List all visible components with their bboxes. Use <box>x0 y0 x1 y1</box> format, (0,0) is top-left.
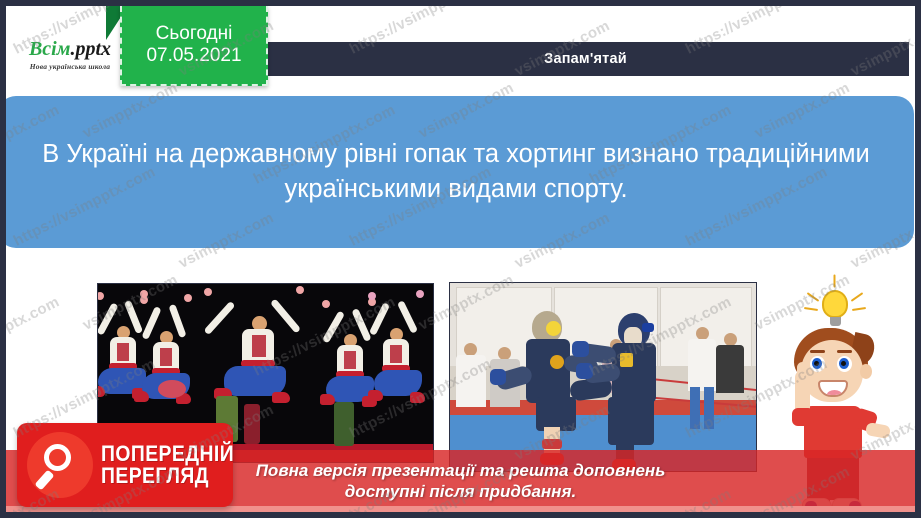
fighter-glove <box>572 341 589 357</box>
slide-canvas: п с Всім.pptx Нова українська школа Сьог… <box>6 6 915 512</box>
preview-badge-line1: ПОПЕРЕДНІЙ <box>101 443 234 465</box>
purchase-banner-line2: доступні після придбання. <box>345 482 576 501</box>
stage-prop <box>158 380 186 398</box>
preview-badge-line2: ПЕРЕГЛЯД <box>101 465 234 487</box>
boy-ear <box>860 364 872 379</box>
watermark-text: https://vsimpptx.com <box>6 293 62 379</box>
boy-tongue <box>827 390 842 397</box>
fighter-emblem <box>550 355 564 369</box>
stage-prop <box>334 402 354 446</box>
preview-badge-text: ПОПЕРЕДНІЙ ПЕРЕГЛЯД <box>101 443 252 488</box>
boy-brow-right <box>837 350 852 353</box>
purchase-banner-text: Повна версія презентації та решта доповн… <box>256 460 666 503</box>
stage-prop <box>244 404 260 444</box>
fighter-hips <box>536 397 576 431</box>
ankle-wrap <box>542 439 562 449</box>
logo-subtitle: Нова українська школа <box>30 62 111 71</box>
magnifier-icon <box>27 432 93 498</box>
boy-sleeve-left <box>792 408 814 426</box>
helmet-pad <box>546 321 561 336</box>
fighter-torso <box>526 339 570 403</box>
logo-name-prefix: Всім <box>29 38 70 60</box>
spectator-legs <box>690 387 700 429</box>
spectator <box>688 339 716 391</box>
logo-wordmark: Всім.pptx <box>29 39 111 59</box>
spectator <box>716 345 744 393</box>
fighter-number <box>620 353 633 367</box>
boy-brow-left <box>810 350 825 353</box>
date-label: Сьогодні <box>156 23 233 45</box>
spectator <box>456 355 486 407</box>
fighter-glove <box>576 363 593 379</box>
logo-name-suffix: .pptx <box>70 38 111 60</box>
slide-title-bar: Запам'ятай <box>262 42 909 76</box>
preview-badge[interactable]: ПОПЕРЕДНІЙ ПЕРЕГЛЯД <box>17 423 233 507</box>
slide-frame: п с Всім.pptx Нова українська школа Сьог… <box>0 0 921 518</box>
boy-pointing-finger <box>797 362 808 380</box>
fighter-hips <box>608 397 654 445</box>
date-badge: Сьогодні 07.05.2021 <box>120 6 268 86</box>
callout-box: В Україні на державному рівні гопак та х… <box>6 96 914 248</box>
boy-pupil-right <box>841 361 846 366</box>
fighter-glove <box>490 369 506 385</box>
boy-arm-right <box>865 422 891 439</box>
date-value: 07.05.2021 <box>146 45 241 67</box>
callout-text: В Україні на державному рівні гопак та х… <box>36 137 876 207</box>
purchase-banner-line1: Повна версія презентації та решта доповн… <box>256 461 666 480</box>
photo-horting-match <box>449 282 757 472</box>
slide-title-text: Запам'ятай <box>544 51 627 67</box>
helmet-badge <box>642 323 654 332</box>
spectator-legs <box>704 387 714 429</box>
boy-pupil-left <box>814 361 819 366</box>
